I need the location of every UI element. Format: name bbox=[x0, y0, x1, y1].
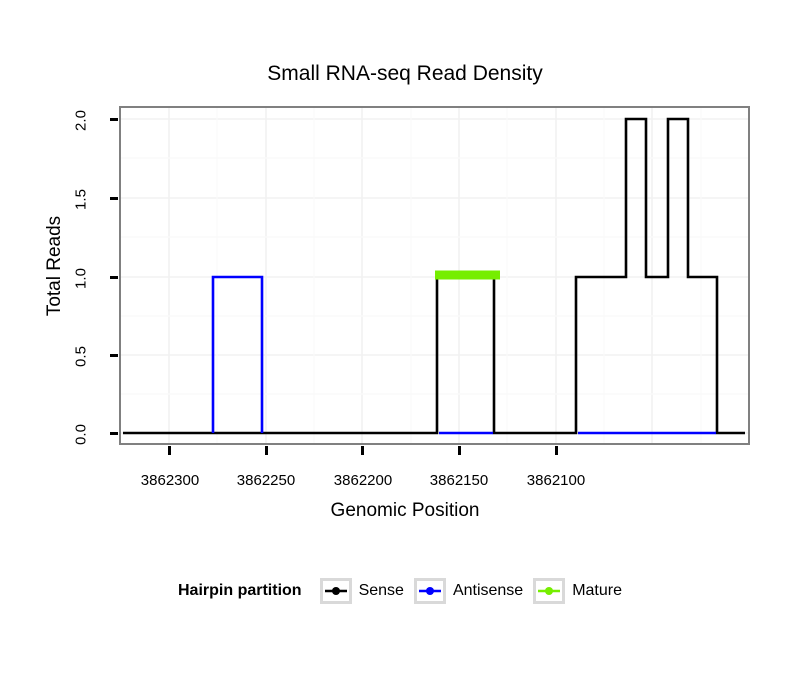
x-tick-mark bbox=[555, 446, 558, 455]
y-tick-label: 2.0 bbox=[73, 98, 90, 144]
line-point-icon bbox=[324, 584, 348, 598]
x-tick-mark bbox=[458, 446, 461, 455]
plot-panel bbox=[119, 106, 750, 445]
chart-figure: Small RNA-seq Read Density Total Reads 2… bbox=[0, 0, 810, 690]
x-tick-mark bbox=[361, 446, 364, 455]
y-tick-mark bbox=[110, 354, 118, 357]
chart-title: Small RNA-seq Read Density bbox=[0, 62, 810, 86]
y-tick-mark bbox=[110, 276, 118, 279]
y-tick-mark bbox=[110, 118, 118, 121]
x-tick-mark bbox=[265, 446, 268, 455]
y-tick-mark bbox=[110, 197, 118, 200]
line-point-icon bbox=[418, 584, 442, 598]
plot-area bbox=[121, 108, 748, 443]
legend-key-antisense bbox=[414, 578, 446, 604]
legend-item-sense[interactable]: Sense bbox=[320, 578, 404, 604]
legend-label-antisense: Antisense bbox=[453, 582, 523, 600]
legend-label-sense: Sense bbox=[359, 582, 404, 600]
x-tick-mark bbox=[168, 446, 171, 455]
y-axis-label: Total Reads bbox=[44, 116, 66, 416]
legend-title: Hairpin partition bbox=[178, 582, 302, 600]
line-point-icon bbox=[537, 584, 561, 598]
y-tick-label: 1.0 bbox=[73, 256, 90, 302]
y-tick-mark bbox=[110, 432, 118, 435]
legend: Hairpin partition Sense Antisense bbox=[0, 578, 810, 604]
legend-key-mature bbox=[533, 578, 565, 604]
x-tick-label: 3862100 bbox=[496, 472, 616, 489]
grid-lines bbox=[121, 108, 748, 443]
legend-label-mature: Mature bbox=[572, 582, 622, 600]
y-tick-label: 1.5 bbox=[73, 177, 90, 223]
y-tick-label: 0.0 bbox=[73, 412, 90, 458]
legend-item-mature[interactable]: Mature bbox=[533, 578, 622, 604]
y-tick-label: 0.5 bbox=[73, 334, 90, 380]
legend-item-antisense[interactable]: Antisense bbox=[414, 578, 523, 604]
x-axis-label: Genomic Position bbox=[0, 500, 810, 522]
legend-key-sense bbox=[320, 578, 352, 604]
